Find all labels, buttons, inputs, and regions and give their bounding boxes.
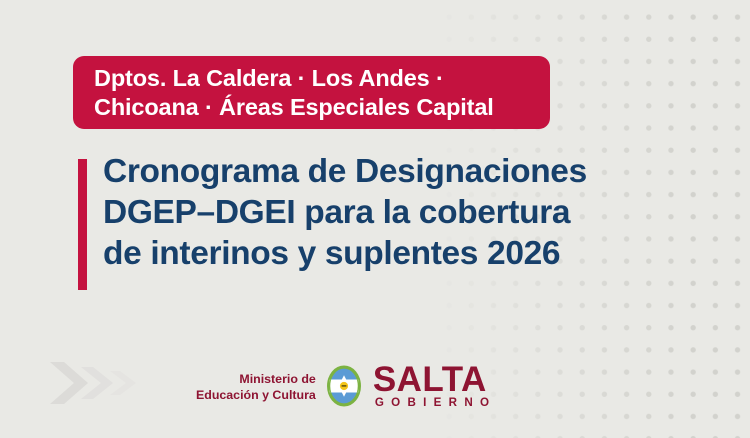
headline-accent-bar xyxy=(78,159,87,290)
salta-wordmark: SALTA GOBIERNO xyxy=(363,362,497,411)
government-logo-lockup: Ministerio de Educación y Cultura SALTA … xyxy=(196,362,556,410)
salta-provincial-crest-icon xyxy=(325,364,363,408)
announcement-banner: Dptos. La Caldera · Los Andes · Chicoana… xyxy=(0,0,750,438)
eyebrow-badge-text: Dptos. La Caldera · Los Andes · Chicoana… xyxy=(73,64,515,121)
ministry-name: Ministerio de Educación y Cultura xyxy=(196,369,325,404)
page-title: Cronograma de Designaciones DGEP–DGEI pa… xyxy=(103,152,703,275)
eyebrow-badge: Dptos. La Caldera · Los Andes · Chicoana… xyxy=(73,56,550,129)
wordmark-secondary-text: GOBIERNO xyxy=(373,396,497,410)
wordmark-primary-text: SALTA xyxy=(373,363,497,396)
chevrons-right-icon xyxy=(48,358,158,408)
